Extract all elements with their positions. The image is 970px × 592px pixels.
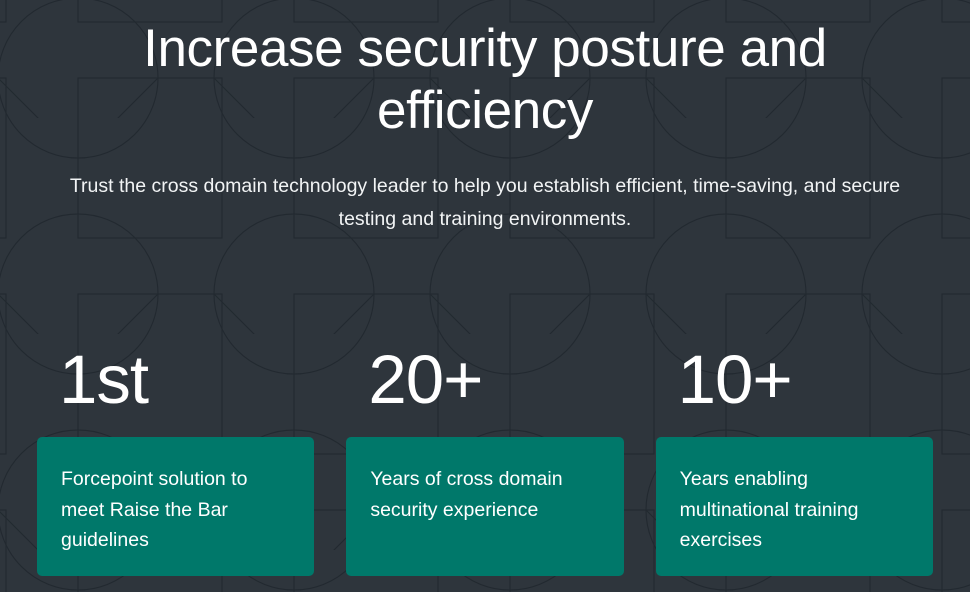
stat-description: Years enabling multinational training ex… — [680, 464, 909, 556]
stat-number: 1st — [59, 340, 314, 420]
stat-description: Forcepoint solution to meet Raise the Ba… — [61, 464, 290, 556]
stat-item: 10+ Years enabling multinational trainin… — [656, 340, 933, 576]
stat-card: Forcepoint solution to meet Raise the Ba… — [37, 437, 314, 576]
stat-card: Years of cross domain security experienc… — [346, 437, 623, 576]
stat-number: 20+ — [368, 340, 623, 420]
stat-description: Years of cross domain security experienc… — [370, 464, 599, 525]
stat-card: Years enabling multinational training ex… — [656, 437, 933, 576]
hero-section: Increase security posture and efficiency… — [0, 0, 970, 592]
stat-number: 10+ — [678, 340, 933, 420]
page-title: Increase security posture and efficiency — [45, 18, 925, 142]
hero-subtitle: Trust the cross domain technology leader… — [50, 170, 920, 236]
hero-content: Increase security posture and efficiency… — [0, 0, 970, 592]
stat-item: 20+ Years of cross domain security exper… — [346, 340, 623, 576]
stats-row: 1st Forcepoint solution to meet Raise th… — [37, 340, 933, 576]
stat-item: 1st Forcepoint solution to meet Raise th… — [37, 340, 314, 576]
